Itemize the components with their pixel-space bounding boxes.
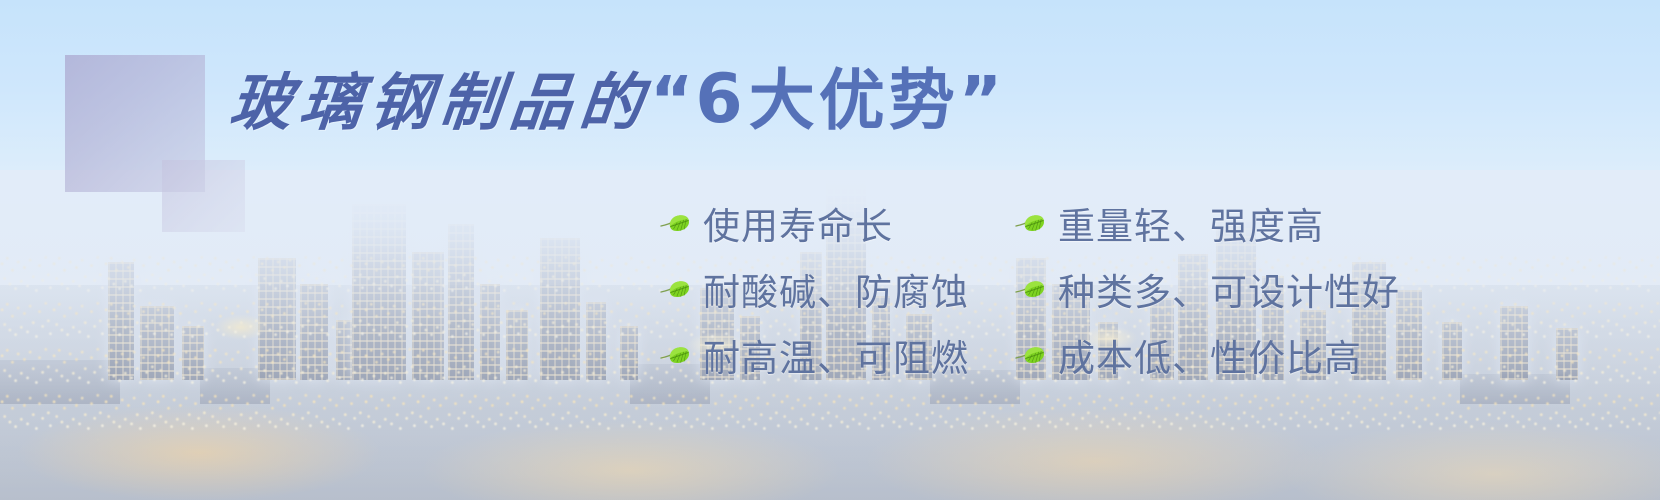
list-item-label: 耐酸碱、防腐蚀 [703, 262, 969, 316]
headline-prefix: 玻璃钢制品的 [227, 72, 654, 134]
list-item: 种类多、可设计性好 [1015, 262, 1435, 316]
leaf-icon [1015, 279, 1045, 299]
headline-open-quote: “ [650, 75, 693, 128]
promo-banner: 玻璃钢制品的 “ 6 大优势 ” 使用寿命长 重量轻、 [0, 0, 1660, 500]
list-item: 耐高温、可阻燃 [660, 328, 1015, 382]
list-item: 使用寿命长 [660, 196, 1015, 250]
list-item: 重量轻、强度高 [1015, 196, 1435, 250]
page-title: 玻璃钢制品的 “ 6 大优势 ” [230, 66, 1002, 134]
list-item: 耐酸碱、防腐蚀 [660, 262, 1015, 316]
headline-close-quote: ” [959, 75, 1002, 128]
list-item: 成本低、性价比高 [1015, 328, 1435, 382]
list-item-label: 种类多、可设计性好 [1058, 262, 1400, 316]
advantages-list: 使用寿命长 重量轻、强度高 耐酸碱、防腐蚀 [660, 190, 1435, 388]
decorative-square-small [162, 160, 245, 232]
headline-suffix: 大优势 [749, 68, 959, 134]
list-item-label: 成本低、性价比高 [1058, 328, 1362, 382]
list-item-label: 使用寿命长 [703, 196, 893, 250]
list-item-label: 重量轻、强度高 [1058, 196, 1324, 250]
headline-number: 6 [693, 66, 748, 134]
leaf-icon [660, 345, 690, 365]
leaf-icon [660, 279, 690, 299]
leaf-icon [660, 213, 690, 233]
leaf-icon [1015, 213, 1045, 233]
leaf-icon [1015, 345, 1045, 365]
list-item-label: 耐高温、可阻燃 [703, 328, 969, 382]
